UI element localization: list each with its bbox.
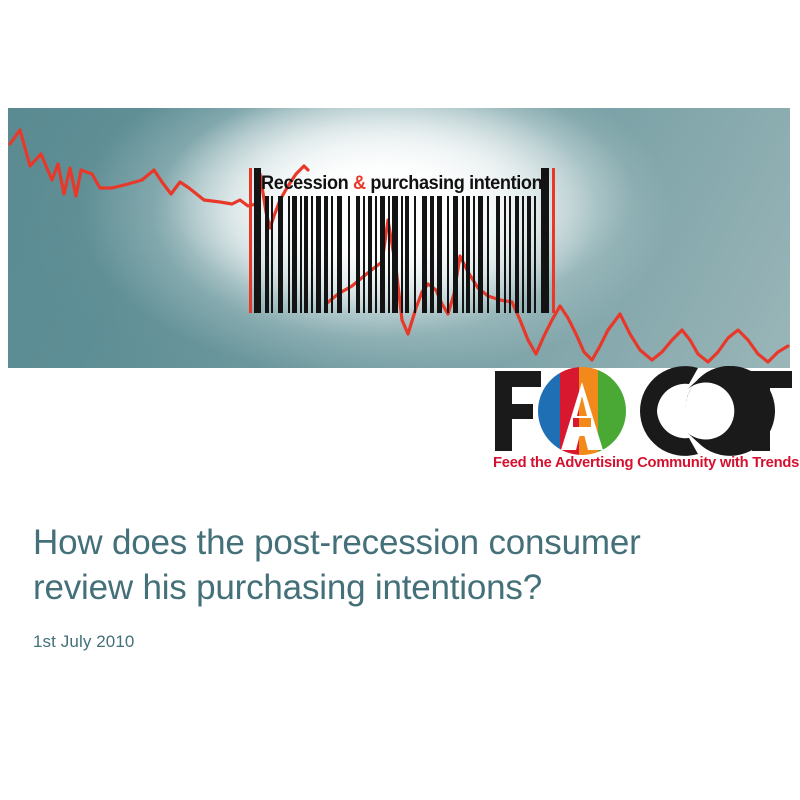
logo-letter-a [538,366,628,456]
page-title: How does the post-recession consumer rev… [33,520,763,610]
fact-logo: Feed the Advertising Community with Tren… [489,366,794,480]
fact-logo-tagline: Feed the Advertising Community with Tren… [493,454,784,471]
barcode-bars [244,168,566,313]
title-block: How does the post-recession consumer rev… [33,520,763,652]
page-title-line-2: review his purchasing intentions? [33,568,542,607]
slide-date: 1st July 2010 [33,632,763,652]
fact-wordmark [489,366,794,456]
logo-letter-f [495,371,541,451]
barcode-graphic: Recession & purchasing intention [244,168,566,313]
hero-banner: Recession & purchasing intention [8,108,790,368]
page-title-line-1: How does the post-recession consumer [33,523,641,562]
